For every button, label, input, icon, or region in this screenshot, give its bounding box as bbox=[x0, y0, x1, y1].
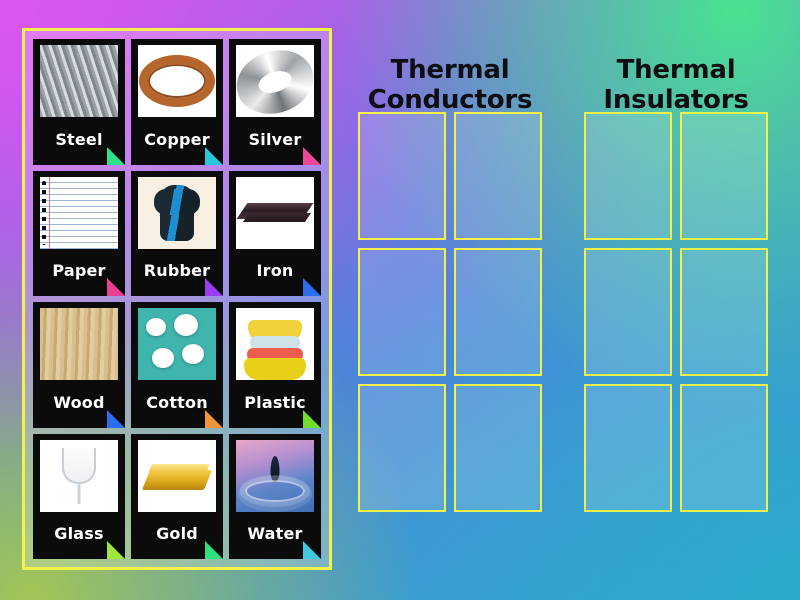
draggable-card[interactable]: Steel bbox=[33, 39, 125, 165]
silver-image bbox=[236, 45, 314, 117]
card-corner-marker-icon bbox=[205, 541, 223, 559]
card-corner-marker-icon bbox=[205, 410, 223, 428]
category-title-line2: Conductors bbox=[352, 86, 548, 116]
iron-image bbox=[236, 177, 314, 249]
draggable-card[interactable]: Gold bbox=[131, 434, 223, 560]
drop-slot[interactable] bbox=[454, 248, 542, 376]
gold-image bbox=[138, 440, 216, 512]
card-grid: SteelCopperSilverPaperRubberIronWoodCott… bbox=[33, 39, 321, 559]
drop-slots-insulators bbox=[584, 112, 768, 512]
drop-slot[interactable] bbox=[584, 112, 672, 240]
draggable-card[interactable]: Water bbox=[229, 434, 321, 560]
drop-slots-conductors bbox=[358, 112, 542, 512]
word-bank-panel: SteelCopperSilverPaperRubberIronWoodCott… bbox=[22, 28, 332, 570]
card-corner-marker-icon bbox=[303, 278, 321, 296]
category-title-line1: Thermal bbox=[578, 56, 774, 86]
draggable-card[interactable]: Glass bbox=[33, 434, 125, 560]
category-title-insulators: Thermal Insulators bbox=[578, 56, 774, 115]
copper-image bbox=[138, 45, 216, 117]
card-corner-marker-icon bbox=[205, 278, 223, 296]
drop-slot[interactable] bbox=[358, 248, 446, 376]
drop-slot[interactable] bbox=[358, 112, 446, 240]
draggable-card[interactable]: Silver bbox=[229, 39, 321, 165]
category-title-conductors: Thermal Conductors bbox=[352, 56, 548, 115]
card-corner-marker-icon bbox=[303, 410, 321, 428]
category-title-line2: Insulators bbox=[578, 86, 774, 116]
card-corner-marker-icon bbox=[107, 147, 125, 165]
card-corner-marker-icon bbox=[107, 541, 125, 559]
glass-image bbox=[40, 440, 118, 512]
drop-slot[interactable] bbox=[680, 112, 768, 240]
drop-slot[interactable] bbox=[584, 248, 672, 376]
card-corner-marker-icon bbox=[303, 147, 321, 165]
drop-slot[interactable] bbox=[680, 248, 768, 376]
rubber-image bbox=[138, 177, 216, 249]
category-insulators: Thermal Insulators bbox=[578, 56, 774, 115]
draggable-card[interactable]: Cotton bbox=[131, 302, 223, 428]
steel-image bbox=[40, 45, 118, 117]
plastic-image bbox=[236, 308, 314, 380]
draggable-card[interactable]: Copper bbox=[131, 39, 223, 165]
card-corner-marker-icon bbox=[107, 410, 125, 428]
wood-image bbox=[40, 308, 118, 380]
paper-image bbox=[40, 177, 118, 249]
drop-slot[interactable] bbox=[584, 384, 672, 512]
drop-slot[interactable] bbox=[680, 384, 768, 512]
drop-slot[interactable] bbox=[454, 112, 542, 240]
card-corner-marker-icon bbox=[205, 147, 223, 165]
cotton-image bbox=[138, 308, 216, 380]
draggable-card[interactable]: Iron bbox=[229, 171, 321, 297]
draggable-card[interactable]: Rubber bbox=[131, 171, 223, 297]
drop-slot[interactable] bbox=[454, 384, 542, 512]
card-corner-marker-icon bbox=[107, 278, 125, 296]
draggable-card[interactable]: Plastic bbox=[229, 302, 321, 428]
drop-slot[interactable] bbox=[358, 384, 446, 512]
draggable-card[interactable]: Wood bbox=[33, 302, 125, 428]
card-corner-marker-icon bbox=[303, 541, 321, 559]
draggable-card[interactable]: Paper bbox=[33, 171, 125, 297]
water-image bbox=[236, 440, 314, 512]
category-title-line1: Thermal bbox=[352, 56, 548, 86]
category-conductors: Thermal Conductors bbox=[352, 56, 548, 115]
